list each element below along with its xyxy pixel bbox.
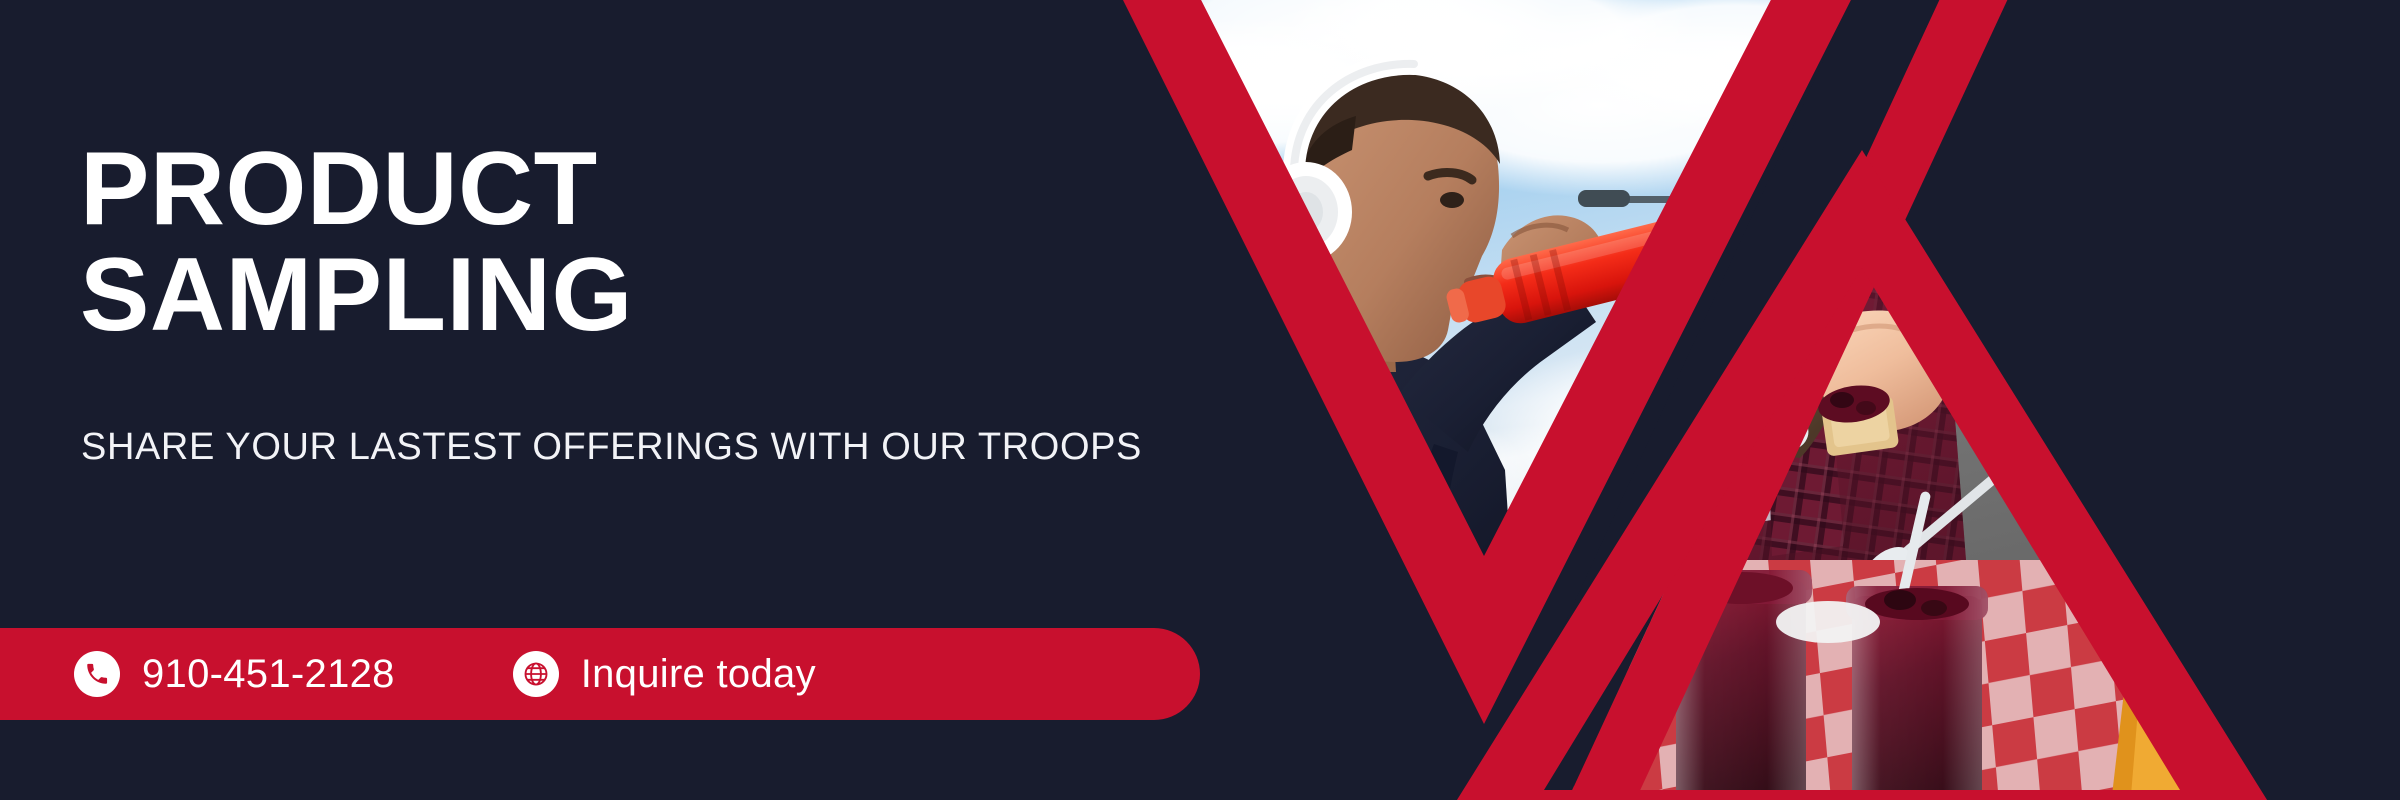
phone-number-label: 910-451-2128 [142,652,395,696]
banner-content: PRODUCT SAMPLING SHARE YOUR LASTEST OFFE… [0,0,1250,800]
inquire-label: Inquire today [581,652,816,696]
globe-icon [513,651,559,697]
phone-icon [74,651,120,697]
subtitle: SHARE YOUR LASTEST OFFERINGS WITH OUR TR… [81,424,1142,470]
product-sampling-banner: PRODUCT SAMPLING SHARE YOUR LASTEST OFFE… [0,0,2400,800]
inquire-cta[interactable]: Inquire today [513,651,816,697]
contact-cta-bar: 910-451-2128 Inquire today [0,628,1200,720]
phone-cta[interactable]: 910-451-2128 [74,651,395,697]
page-title: PRODUCT SAMPLING [80,136,633,348]
